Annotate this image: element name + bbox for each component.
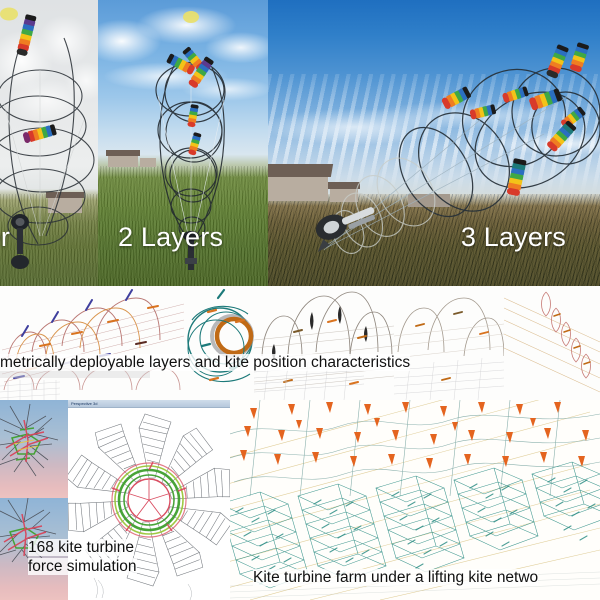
mid-band-caption: metrically deployable layers and kite po…: [0, 354, 600, 376]
kite-farm-caption: Kite turbine farm under a lifting kite n…: [253, 568, 538, 587]
kite-position-wireframe: [254, 286, 394, 400]
deployable-layers-wireframe: [0, 286, 186, 400]
kite: [16, 14, 37, 56]
one-layer-caption: yer: [0, 222, 10, 253]
three-layer-caption: 3 Layers: [461, 222, 566, 253]
kite: [469, 104, 496, 120]
force-vector-wireframe: [0, 400, 68, 498]
kite: [188, 132, 202, 156]
photo-row: yer: [0, 0, 600, 286]
ground-station: [11, 214, 29, 269]
deployable-layers-cad[interactable]: [0, 286, 186, 400]
bottom-section: Perspective 3d: [0, 400, 600, 600]
kite: [502, 86, 529, 103]
three-layer-photo[interactable]: 3 Layers: [268, 0, 600, 286]
force-simulation-caption-line2: force simulation: [28, 558, 137, 575]
kite-position-cad[interactable]: [254, 286, 394, 400]
force-simulation-gradient-top[interactable]: [0, 400, 68, 498]
kite: [22, 124, 57, 144]
sun: [0, 8, 18, 21]
kite: [569, 42, 589, 73]
kite: [441, 86, 472, 110]
mid-band-caption-text: metrically deployable layers and kite po…: [0, 354, 410, 371]
two-layer-photo[interactable]: 2 Layers: [98, 0, 268, 286]
kite-angle-wireframe: [504, 286, 600, 400]
kite: [546, 120, 577, 153]
force-simulation-caption-line1: 168 kite turbine: [28, 539, 134, 556]
composite-figure: yer: [0, 0, 600, 600]
arch-grid-wireframe: [394, 286, 504, 400]
one-layer-photo[interactable]: yer: [0, 0, 98, 286]
ring-detail-wireframe: [186, 286, 254, 400]
ring-detail-cad[interactable]: [186, 286, 254, 400]
two-layer-caption: 2 Layers: [118, 222, 223, 253]
sun: [183, 11, 199, 23]
kite-farm-caption-text: Kite turbine farm under a lifting kite n…: [253, 569, 538, 586]
one-layer-turbine-overlay: [0, 0, 98, 286]
kite-angle-cad[interactable]: [504, 286, 600, 400]
kite: [546, 44, 569, 79]
arch-grid-cad[interactable]: [394, 286, 504, 400]
mid-band: metrically deployable layers and kite po…: [0, 286, 600, 400]
kite: [528, 88, 562, 111]
force-simulation-caption: 168 kite turbine force simulation: [28, 538, 137, 576]
